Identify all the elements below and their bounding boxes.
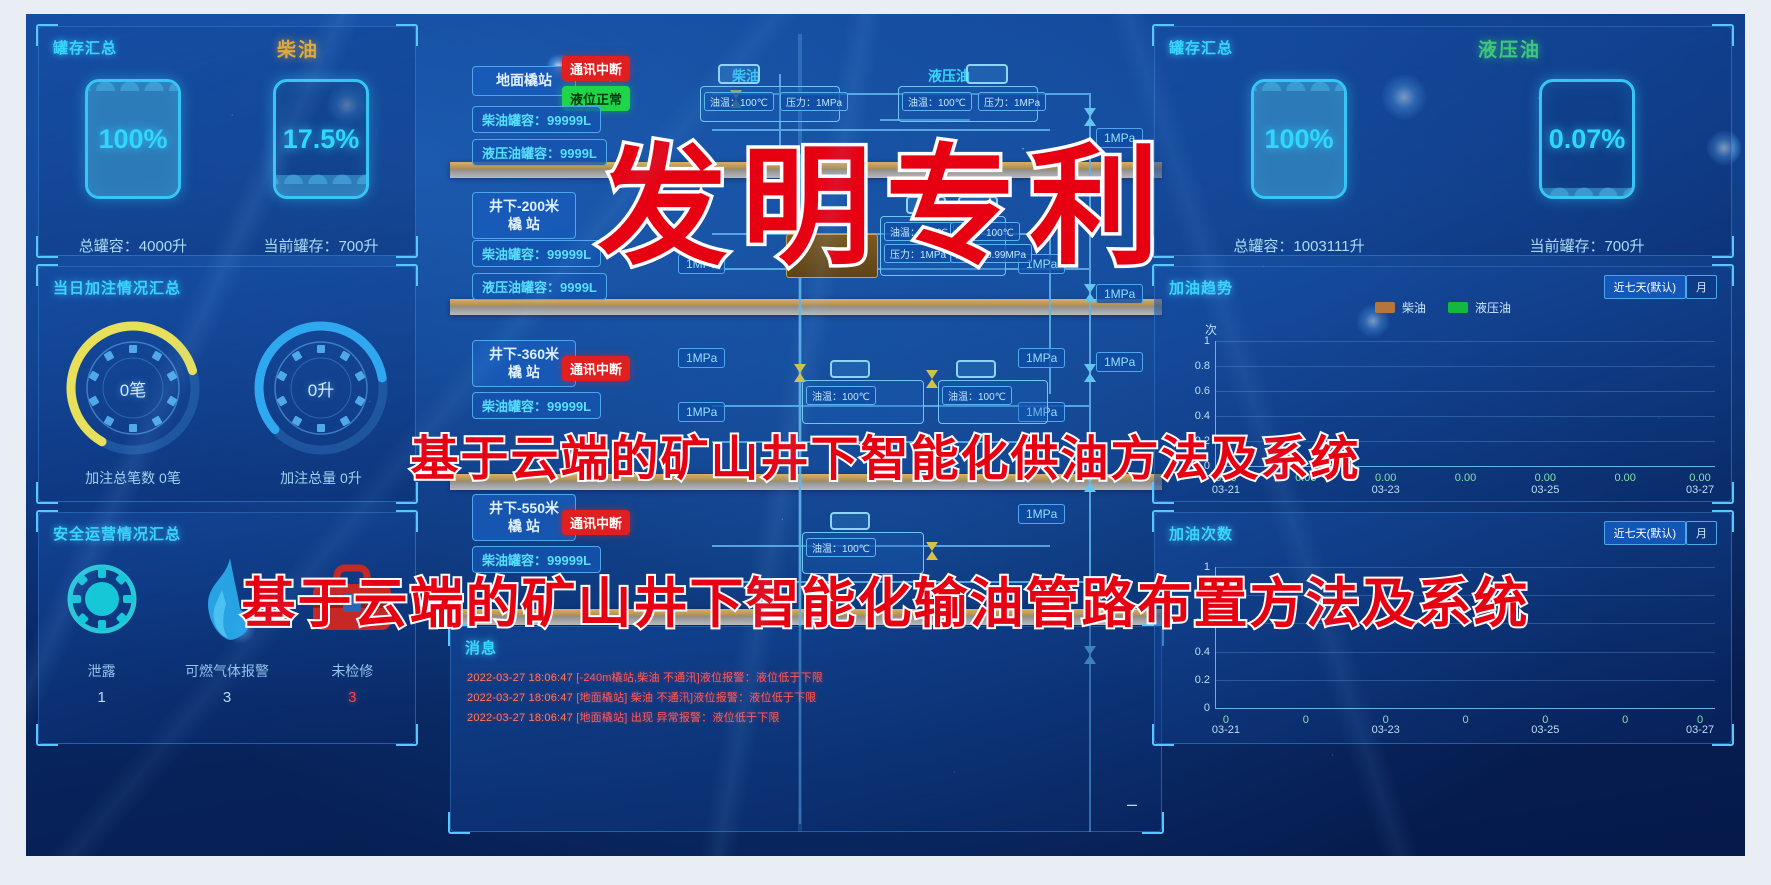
station-label[interactable]: 地面橇站	[472, 66, 576, 96]
x-tick-label: 03-21	[1212, 484, 1240, 496]
panel-title: 当日加注情况汇总	[53, 277, 181, 298]
chart-plot-count: 1 0.8 0.6 0.4 0.2 0 0 0 0 0 0 0 0 03-21 …	[1169, 549, 1721, 735]
dial-shape: 0笔	[58, 313, 208, 463]
pressure-tag: 1MPa	[1096, 352, 1143, 372]
message-row: 2022-03-27 18:06:47 [地面橇站] 出现 异常报警：液位低于下…	[467, 709, 1145, 725]
meter-pressure: 压力：1MPa	[780, 92, 848, 111]
safety-item-label: 未检修	[331, 661, 373, 681]
meter-pressure: 压力：1MPa	[978, 92, 1046, 111]
station-status-red: 通讯中断	[562, 56, 630, 81]
meter-pressure: 压力：0.99MPa	[950, 244, 1032, 263]
screenshot-root: 罐存汇总 柴油 100% 总罐容：4000升 17.5% 当前罐存：700升	[0, 0, 1771, 885]
y-tick-label: 1	[1204, 561, 1210, 573]
dial-label: 加注总量 0升	[280, 469, 362, 488]
legend-label-hydraulic: 液压油	[1475, 299, 1511, 316]
plot-area: 1 0.8 0.6 0.4 0.2 0 0 0 0 0 0 0 0 03-21 …	[1215, 567, 1715, 709]
tank-block	[906, 196, 946, 214]
equipment-header-hydraulic: 液压油	[928, 66, 970, 86]
gridline: 1	[1216, 341, 1715, 342]
dial-shape: 0升	[246, 313, 396, 463]
gridline: 0.2	[1216, 680, 1715, 681]
tank-percent: 100%	[88, 82, 178, 196]
dial-gauge-volume: 0升 加注总量 0升	[235, 313, 408, 488]
diesel-badge: 柴油	[277, 35, 319, 62]
corner-decor	[36, 724, 58, 746]
panel-messages: 消息 2022-03-27 18:06:47 [-240m橇站,柴油 不通汛]液…	[450, 626, 1162, 832]
x-tick-label: 03-21	[1212, 724, 1240, 736]
station-status-red: 通讯中断	[562, 510, 630, 535]
pressure-tag: 1MPa	[678, 402, 725, 422]
corner-decor	[396, 724, 418, 746]
y-tick-label: 0.8	[1195, 589, 1210, 601]
corner-decor	[396, 264, 418, 286]
y-tick-label: 0.4	[1195, 410, 1210, 422]
minimize-button[interactable]: –	[1121, 797, 1143, 815]
tank-gauge-row: 100% 总罐容：1003111升 0.07% 当前罐存：700升	[1155, 79, 1731, 256]
tank-block	[956, 360, 996, 378]
message-timestamp: 2022-03-27 18:06:47	[467, 712, 573, 724]
station-tank-tag: 柴油罐容：99999L	[472, 106, 601, 133]
dial-value: 0笔	[58, 313, 208, 463]
gridline: 0.8	[1216, 366, 1715, 367]
dial-value: 0升	[246, 313, 396, 463]
y-tick-label: 0.4	[1195, 646, 1210, 658]
chart-legend: 柴油 液压油	[1155, 299, 1731, 316]
tank-block	[966, 64, 1008, 84]
y-tick-label: 0.8	[1195, 360, 1210, 372]
pressure-tag: 1MPa	[1018, 348, 1065, 368]
corner-decor	[396, 510, 418, 532]
dial-row: 0笔 加注总笔数 0笔	[39, 313, 415, 488]
tank-caption: 当前罐存：700升	[263, 235, 378, 256]
x-tick-label: 03-25	[1531, 484, 1559, 496]
station-tank-tag: 柴油罐容：99999L	[472, 546, 601, 573]
dashboard-screen: 罐存汇总 柴油 100% 总罐容：4000升 17.5% 当前罐存：700升	[26, 14, 1745, 856]
tank-block	[830, 360, 870, 378]
pressure-tag: 1MPa	[678, 254, 725, 274]
safety-row: 泄露 1 可燃气体报警 3	[39, 553, 415, 706]
panel-left-tank-summary: 罐存汇总 柴油 100% 总罐容：4000升 17.5% 当前罐存：700升	[38, 26, 416, 256]
gridline: 0	[1216, 466, 1715, 467]
panel-title: 罐存汇总	[53, 37, 117, 58]
x-tick-label: 03-27	[1686, 484, 1714, 496]
pressure-tag: 1MPa	[678, 348, 725, 368]
y-tick-label: 0.6	[1195, 385, 1210, 397]
safety-item-label: 可燃气体报警	[185, 661, 269, 681]
range-button-week[interactable]: 近七天(默认)	[1604, 275, 1686, 299]
flame-icon	[190, 553, 264, 645]
message-row: 2022-03-27 18:06:47 [地面橇站] 柴油 不通汛]液位报警：液…	[467, 689, 1145, 705]
tank-block	[958, 196, 998, 214]
meter-oil-temp: 油温：100℃	[902, 92, 972, 111]
pressure-tag: 1MPa	[1018, 504, 1065, 524]
panel-right-tank-summary: 罐存汇总 液压油 100% 总罐容：1003111升 0.07% 当前罐存：70…	[1154, 26, 1732, 256]
x-tick-label: 03-23	[1372, 484, 1400, 496]
meter-oil-temp: 油温：100℃	[806, 386, 876, 405]
x-tick-label: 03-23	[1372, 724, 1400, 736]
safety-item-label: 泄露	[88, 661, 116, 681]
tank-shape: 100%	[1251, 79, 1347, 199]
y-tick-label: 1	[1204, 335, 1210, 347]
panel-refuel-trend: 加油趋势 近七天(默认) 月 柴油 液压油 次 1 0.8	[1154, 266, 1732, 502]
gridline: 0.6	[1216, 623, 1715, 624]
panel-title: 安全运营情况汇总	[53, 523, 181, 544]
safety-item-value: 1	[97, 689, 105, 706]
panel-refuel-count: 加油次数 近七天(默认) 月 1 0.8 0.6 0.4 0.2 0 0 0 0…	[1154, 512, 1732, 744]
station-tank-tag: 液压油罐容：9999L	[472, 273, 607, 300]
y-tick-label: 0.2	[1195, 674, 1210, 686]
legend-swatch-hydraulic	[1448, 302, 1468, 313]
message-list[interactable]: 2022-03-27 18:06:47 [-240m橇站,柴油 不通汛]液位报警…	[467, 665, 1145, 725]
panel-title: 罐存汇总	[1169, 37, 1233, 58]
meter-pressure: 压力：1MPa	[884, 244, 952, 263]
meter-oil-temp: 油温：100℃	[704, 92, 774, 111]
hydraulic-badge: 液压油	[1478, 35, 1541, 62]
message-text: [地面橇站] 出现 异常报警：液位低于下限	[576, 712, 779, 724]
dial-gauge-count: 0笔 加注总笔数 0笔	[47, 313, 220, 488]
message-timestamp: 2022-03-27 18:06:47	[467, 692, 573, 704]
tank-caption: 当前罐存：700升	[1529, 235, 1644, 256]
x-tick-label: 03-25	[1531, 724, 1559, 736]
toolbox-icon	[309, 553, 395, 645]
station-status-red: 通讯中断	[562, 356, 630, 381]
message-text: [地面橇站] 柴油 不通汛]液位报警：液位低于下限	[576, 692, 816, 704]
gear-ring-icon	[62, 553, 142, 645]
y-tick-label: 0	[1204, 702, 1210, 714]
safety-item-leak[interactable]: 泄露 1	[43, 553, 160, 706]
safety-item-gas-alarm[interactable]: 可燃气体报警 3	[169, 553, 286, 706]
gridline: 0.8	[1216, 595, 1715, 596]
legend-item-hydraulic[interactable]: 液压油	[1448, 299, 1511, 316]
tank-shape: 0.07%	[1539, 79, 1635, 199]
corner-decor	[1142, 812, 1164, 834]
tank-caption: 总罐容：4000升	[79, 235, 187, 256]
tank-block	[718, 64, 760, 84]
x-tick-label: 03-27	[1686, 724, 1714, 736]
gridline: 0.6	[1216, 391, 1715, 392]
panel-daily-refuel: 当日加注情况汇总	[38, 266, 416, 502]
plot-area: 1 0.8 0.6 0.4 0.2 0 0.00 0.00 0.00 0.00 …	[1215, 341, 1715, 467]
gridline: 0.4	[1216, 416, 1715, 417]
y-tick-label: 0.2	[1195, 435, 1210, 447]
message-timestamp: 2022-03-27 18:06:47	[467, 672, 573, 684]
station-label[interactable]: 井下-550米 橇 站	[472, 494, 576, 541]
panel-title: 加油次数	[1169, 523, 1233, 544]
corner-decor	[396, 24, 418, 46]
tank-gauge: 0.07% 当前罐存：700升	[1455, 79, 1720, 256]
tank-percent: 100%	[1254, 82, 1344, 196]
safety-item-value: 3	[223, 689, 231, 706]
range-button-week[interactable]: 近七天(默认)	[1604, 521, 1686, 545]
corner-decor	[1712, 24, 1734, 46]
tank-shape: 17.5%	[273, 79, 369, 199]
trend-range-buttons[interactable]: 近七天(默认) 月	[1604, 275, 1717, 299]
meter-oil-temp: 油温：100℃	[950, 222, 1020, 241]
tank-gauge-row: 100% 总罐容：4000升 17.5% 当前罐存：700升	[39, 79, 415, 256]
tank-gauge: 17.5% 当前罐存：700升	[235, 79, 408, 256]
gridline: 0.2	[1216, 441, 1715, 442]
tank-gauge: 100% 总罐容：4000升	[47, 79, 220, 256]
dial-label: 加注总笔数 0笔	[85, 469, 181, 488]
tank-percent: 17.5%	[276, 82, 366, 196]
station-tank-tag: 液压油罐容：9999L	[472, 139, 607, 166]
legend-label-diesel: 柴油	[1402, 299, 1426, 316]
safety-item-value: 3	[348, 689, 356, 706]
panel-title: 加油趋势	[1169, 277, 1233, 298]
y-tick-label: 0	[1204, 460, 1210, 472]
tank-block	[830, 512, 870, 530]
station-tank-tag: 柴油罐容：99999L	[472, 392, 601, 419]
y-tick-label: 0.6	[1195, 617, 1210, 629]
chart-plot-trend: 次 1 0.8 0.6 0.4 0.2 0 0.00 0.00 0.00 0.0…	[1169, 323, 1721, 493]
safety-item-unmaintained[interactable]: 未检修 3	[294, 553, 411, 706]
tank-percent: 0.07%	[1542, 82, 1632, 196]
tank-caption: 总罐容：1003111升	[1233, 235, 1364, 256]
tank-gauge: 100% 总罐容：1003111升	[1167, 79, 1432, 256]
oil-tank-visual	[786, 234, 878, 278]
station-tank-tag: 柴油罐容：99999L	[472, 240, 601, 267]
legend-item-diesel[interactable]: 柴油	[1375, 299, 1426, 316]
meter-oil-temp: 油温：100℃	[806, 538, 876, 557]
message-text: [-240m橇站,柴油 不通汛]液位报警：液位低于下限	[576, 672, 823, 684]
panel-safety-summary: 安全运营情况汇总	[38, 512, 416, 744]
range-button-month[interactable]: 月	[1686, 521, 1717, 545]
gridline: 0.4	[1216, 652, 1715, 653]
station-label[interactable]: 井下-200米 橇 站	[472, 192, 576, 239]
panel-title: 消息	[465, 637, 497, 658]
gridline: 1	[1216, 567, 1715, 568]
range-button-month[interactable]: 月	[1686, 275, 1717, 299]
pressure-tag: 1MPa	[1096, 284, 1143, 304]
pressure-tag: 1MPa	[1096, 128, 1143, 148]
gridline: 0	[1216, 708, 1715, 709]
message-row: 2022-03-27 18:06:47 [-240m橇站,柴油 不通汛]液位报警…	[467, 669, 1145, 685]
legend-swatch-diesel	[1375, 302, 1395, 313]
meter-oil-temp: 油温：100℃	[884, 222, 954, 241]
count-range-buttons[interactable]: 近七天(默认) 月	[1604, 521, 1717, 545]
meter-oil-temp: 油温：100℃	[942, 386, 1012, 405]
station-label[interactable]: 井下-360米 橇 站	[472, 340, 576, 387]
tank-shape: 100%	[85, 79, 181, 199]
corner-decor	[448, 812, 470, 834]
